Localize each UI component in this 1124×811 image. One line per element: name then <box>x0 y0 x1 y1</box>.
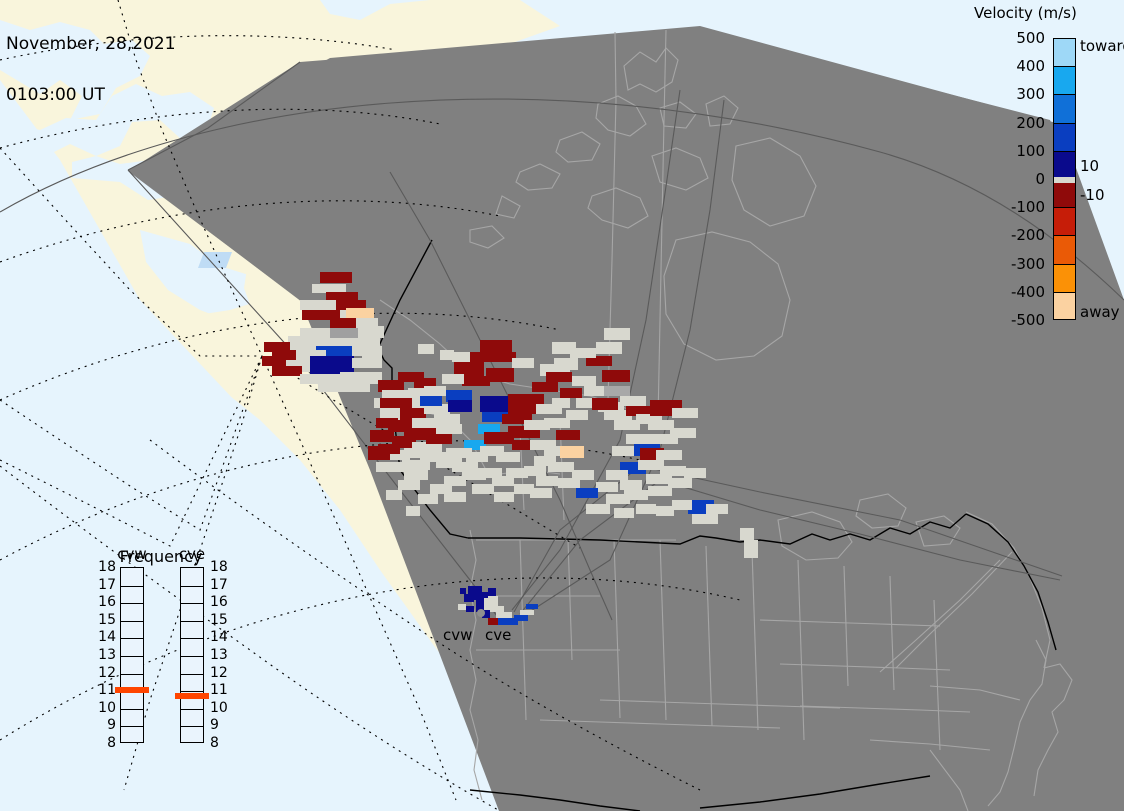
frequency-gridline <box>181 621 203 622</box>
colorbar-tick: 300 <box>1016 85 1045 103</box>
colorbar-title: Velocity (m/s) <box>974 4 1124 22</box>
frequency-gridline <box>181 674 203 675</box>
frequency-tick: 15 <box>210 612 228 628</box>
frequency-tick: 14 <box>96 629 116 645</box>
frequency-tick: 11 <box>96 682 116 698</box>
frequency-gridline <box>121 674 143 675</box>
colorbar-side-labels: toward10-10away <box>1078 38 1124 328</box>
colorbar-inner-negative-label: -10 <box>1080 186 1105 204</box>
colorbar-tick: 100 <box>1016 142 1045 160</box>
frequency-tick: 17 <box>210 577 228 593</box>
colorbar-tick: 500 <box>1016 29 1045 47</box>
velocity-bin-group <box>262 272 758 625</box>
frequency-gridline <box>121 638 143 639</box>
frequency-gridline <box>181 603 203 604</box>
frequency-scale-cvw <box>120 567 144 743</box>
colorbar-tick: -300 <box>1011 255 1045 273</box>
frequency-tick: 9 <box>210 717 219 733</box>
colorbar-toward-label: toward <box>1080 37 1124 55</box>
colorbar-tick-labels: 5004003002001000-100-200-300-400-500 <box>960 38 1049 320</box>
frequency-tick: 11 <box>210 682 228 698</box>
colorbar-segment <box>1054 183 1075 208</box>
site-label-cvw: cvw <box>443 626 472 644</box>
frequency-tick: 9 <box>96 717 116 733</box>
colorbar-inner-positive-label: 10 <box>1080 157 1099 175</box>
frequency-gridline <box>181 656 203 657</box>
frequency-scale-cve <box>180 567 204 743</box>
colorbar-segment <box>1054 293 1075 320</box>
colorbar-tick: -200 <box>1011 226 1045 244</box>
frequency-tick: 18 <box>210 559 228 575</box>
frequency-tick: 12 <box>210 665 228 681</box>
colorbar-segment <box>1054 95 1075 123</box>
colorbar-segment <box>1054 236 1075 264</box>
velocity-colorbar: Velocity (m/s) 5004003002001000-100-200-… <box>960 0 1124 340</box>
frequency-tick: 14 <box>210 629 228 645</box>
frequency-tick: 13 <box>210 647 228 663</box>
frequency-tick: 8 <box>96 735 116 751</box>
frequency-legend: Frequency cvw18171615141312111098cve1817… <box>80 545 242 790</box>
colorbar-tick: 0 <box>1035 170 1045 188</box>
colorbar-tick: -100 <box>1011 198 1045 216</box>
frequency-gridline <box>181 691 203 692</box>
frequency-tick: 10 <box>96 700 116 716</box>
colorbar-gradient-bar <box>1053 38 1076 320</box>
frequency-gridline <box>121 586 143 587</box>
frequency-column-label-cve: cve <box>169 545 215 563</box>
frequency-gridline <box>181 586 203 587</box>
colorbar-tick: 400 <box>1016 57 1045 75</box>
frequency-tick: 18 <box>96 559 116 575</box>
frequency-tick: 16 <box>210 594 228 610</box>
frequency-gridline <box>181 726 203 727</box>
colorbar-tick: -400 <box>1011 283 1045 301</box>
frequency-gridline <box>121 726 143 727</box>
frequency-tick: 17 <box>96 577 116 593</box>
timestamp-block: November, 28,2021 0103:00 UT <box>6 2 176 138</box>
colorbar-segment <box>1054 265 1075 293</box>
frequency-gridline <box>121 603 143 604</box>
frequency-tick: 10 <box>210 700 228 716</box>
frequency-gridline <box>121 709 143 710</box>
colorbar-segment <box>1054 67 1075 95</box>
frequency-tick: 12 <box>96 665 116 681</box>
colorbar-segment <box>1054 152 1075 177</box>
colorbar-segment <box>1054 39 1075 67</box>
timestamp-date: November, 28,2021 <box>6 36 176 53</box>
colorbar-segment <box>1054 124 1075 152</box>
frequency-marker-cvw <box>115 687 149 693</box>
frequency-gridline <box>121 656 143 657</box>
colorbar-tick: 200 <box>1016 114 1045 132</box>
frequency-gridline <box>121 621 143 622</box>
frequency-tick: 13 <box>96 647 116 663</box>
colorbar-tick: -500 <box>1011 311 1045 329</box>
frequency-tick: 8 <box>210 735 219 751</box>
timestamp-time: 0103:00 UT <box>6 87 176 104</box>
frequency-gridline <box>181 638 203 639</box>
colorbar-away-label: away <box>1080 303 1120 321</box>
frequency-marker-cve <box>175 693 209 699</box>
frequency-gridline <box>181 709 203 710</box>
site-label-cve: cve <box>485 626 511 644</box>
frequency-tick: 15 <box>96 612 116 628</box>
screenshot-root: November, 28,2021 0103:00 UT cvw cve Vel… <box>0 0 1124 811</box>
colorbar-segment <box>1054 208 1075 236</box>
frequency-tick: 16 <box>96 594 116 610</box>
